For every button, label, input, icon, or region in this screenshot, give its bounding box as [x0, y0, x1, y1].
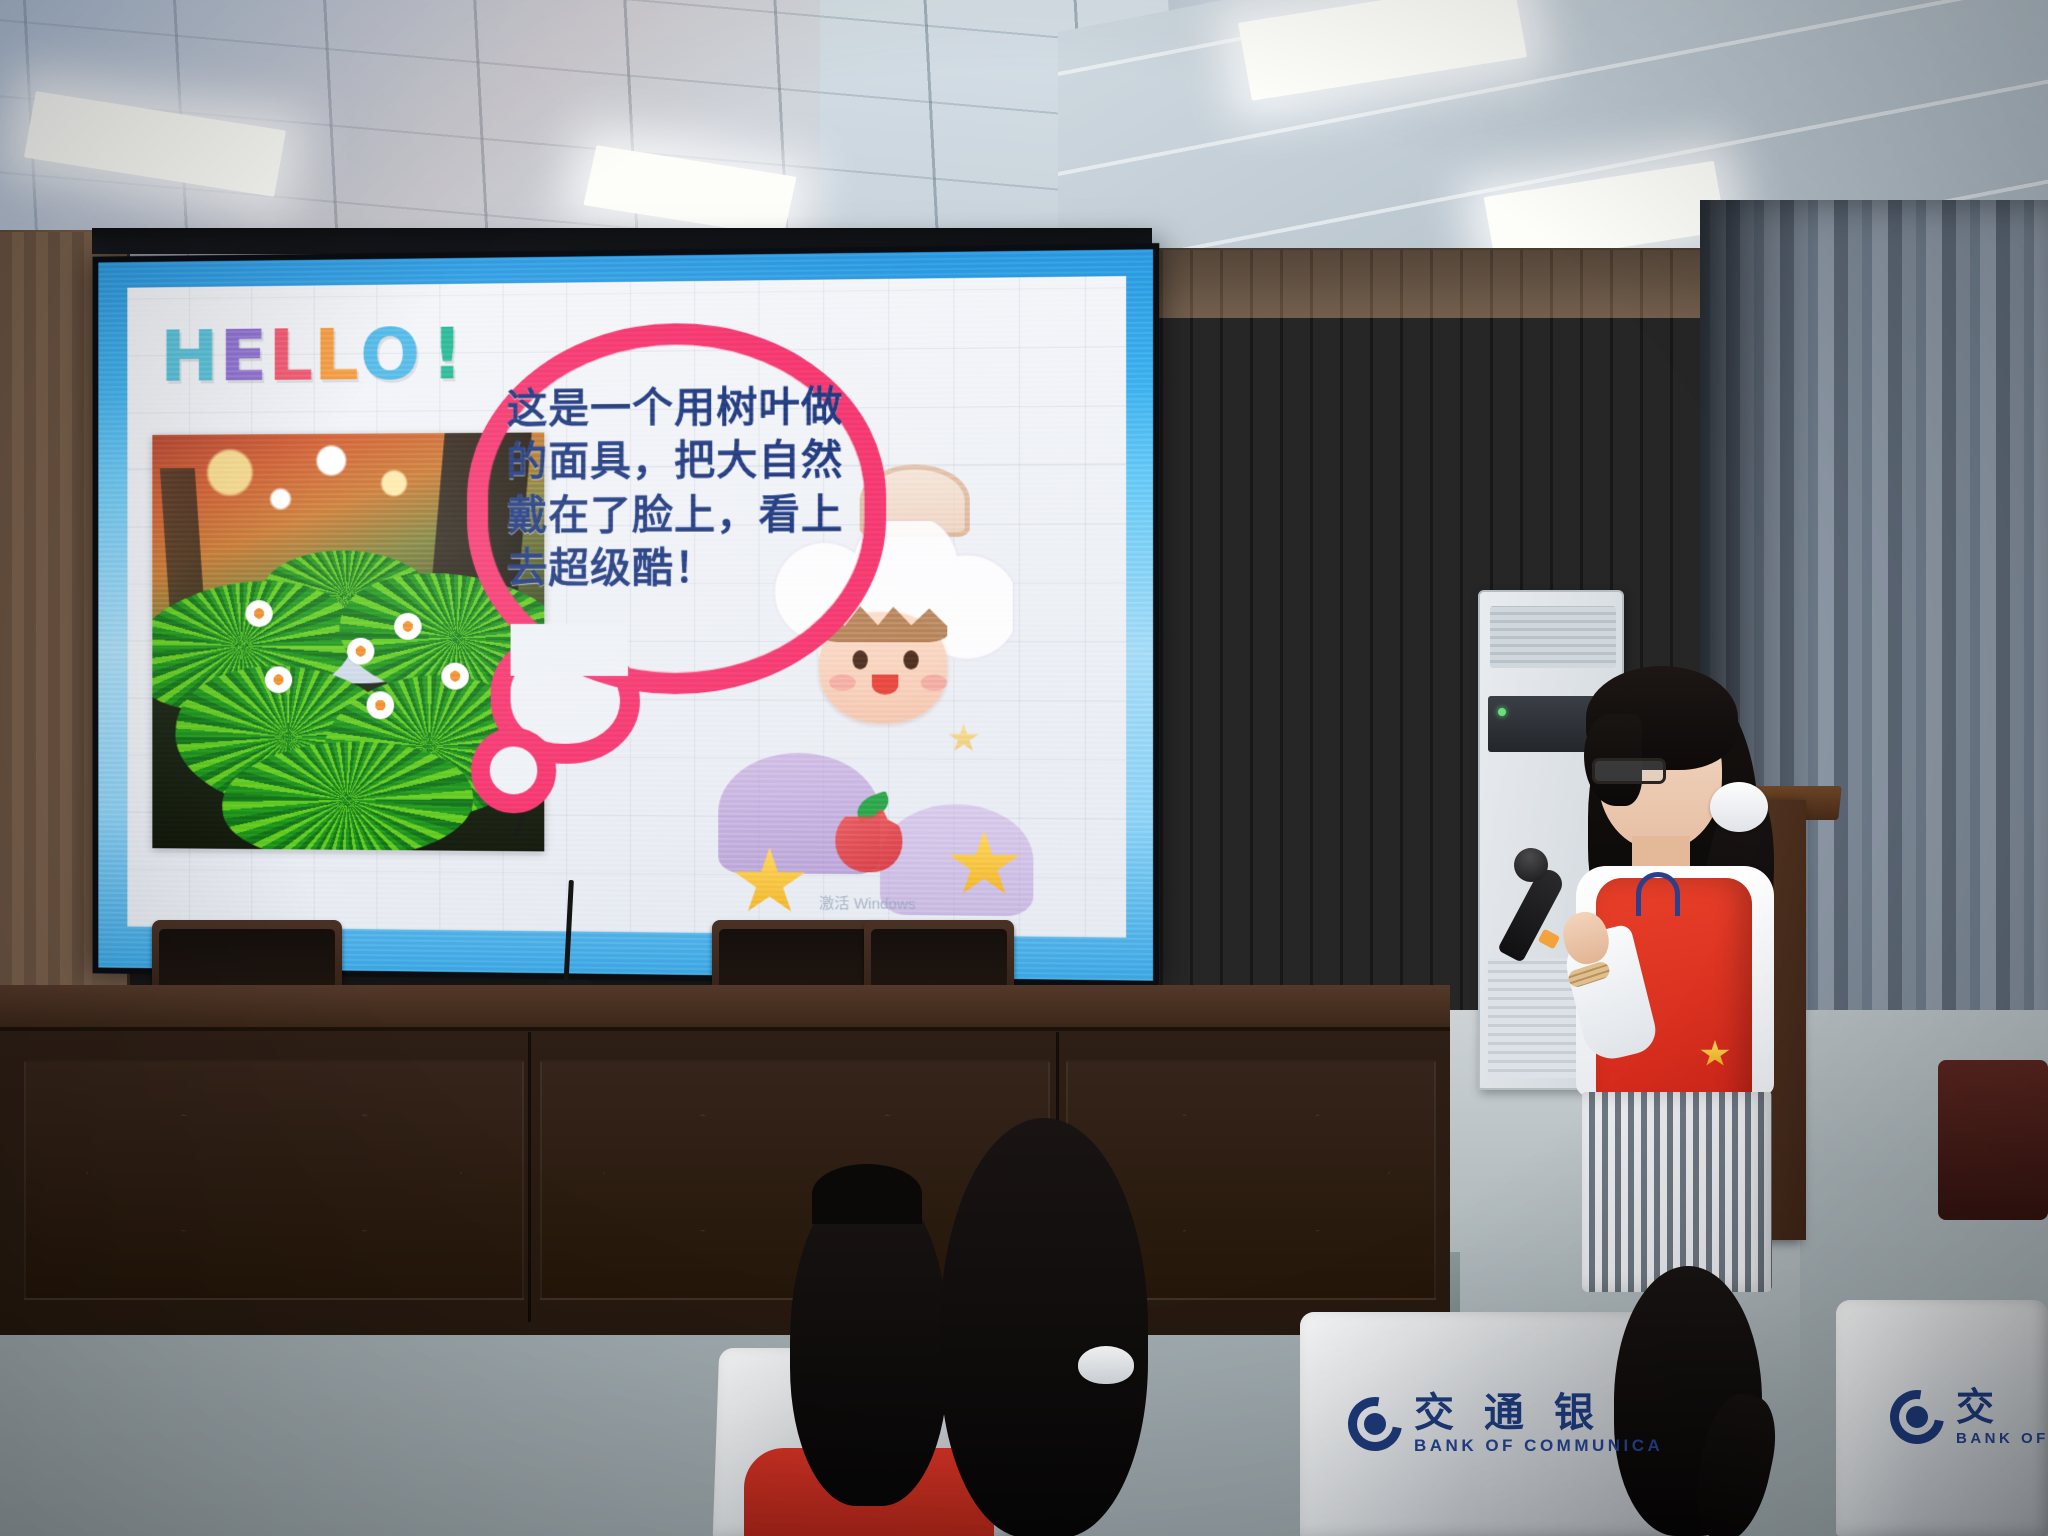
presenter-lanyard	[1636, 872, 1680, 916]
daisy-flower	[347, 638, 374, 665]
desk-diamond-inlay	[603, 1114, 988, 1232]
hair-clip	[1078, 1346, 1134, 1384]
hello-letter: E	[219, 322, 265, 390]
hair-scrunchie	[1710, 782, 1768, 832]
microphone-tip	[1538, 929, 1560, 950]
bank-name-chinese: 交	[1956, 1388, 2048, 1428]
bank-logo-text: 交 BANK OF	[1956, 1388, 2048, 1447]
bank-of-communications-logo-icon	[1348, 1397, 1402, 1451]
star-icon	[947, 723, 980, 754]
hello-letter: L	[314, 321, 357, 389]
desk-diamond-inlay	[1112, 1114, 1390, 1232]
bubble-line: 戴在了脸上，看上	[507, 488, 858, 543]
windows-activation-watermark: 激活 Windows	[819, 892, 916, 914]
daisy-flower	[394, 613, 422, 640]
bubble-line: 这是一个用树叶做	[507, 380, 858, 436]
hello-letter: H	[160, 322, 216, 390]
desk-top-surface	[0, 985, 1450, 1031]
bank-name-chinese: 交 通 银	[1414, 1392, 1663, 1434]
speech-bubble-join	[511, 624, 628, 676]
student-presenter	[1524, 640, 1824, 1260]
cartoon-cheek	[829, 674, 855, 690]
presenter-skirt	[1582, 1092, 1772, 1292]
bank-logo: 交 BANK OF	[1890, 1388, 2048, 1447]
daisy-flower	[441, 663, 469, 690]
bank-name-english: BANK OF COMMUNICA	[1414, 1436, 1663, 1456]
cartoon-mouth	[872, 675, 898, 695]
hello-letter: O	[360, 320, 418, 388]
left-wall-wood-slats	[0, 232, 92, 1052]
daisy-flower	[245, 600, 272, 627]
bank-name-english: BANK OF	[1956, 1430, 2048, 1447]
eyeglasses-icon	[1592, 758, 1666, 784]
bank-of-communications-logo-icon	[1890, 1390, 1944, 1444]
conference-room-scene: H E L L O !	[0, 0, 2048, 1536]
desk-diamond-inlay	[86, 1114, 463, 1232]
cartoon-eye	[903, 650, 918, 669]
cartoon-eye	[853, 650, 868, 669]
led-screen-surface: H E L L O !	[98, 249, 1153, 980]
slide-heading-hello: H E L L O !	[160, 320, 461, 390]
apple-icon	[835, 807, 902, 872]
audience-head	[790, 1176, 948, 1506]
bubble-line: 去超级酷！	[507, 541, 858, 595]
bank-logo-text: 交 通 银 BANK OF COMMUNICA	[1414, 1392, 1663, 1456]
hello-exclamation: !	[431, 320, 461, 388]
logo-dot	[1364, 1413, 1386, 1435]
hello-letter: L	[268, 321, 311, 389]
daisy-flower	[367, 692, 394, 719]
presentation-slide: H E L L O !	[127, 276, 1126, 938]
bubble-line: 的面具，把大自然	[507, 434, 858, 489]
speech-bubble-text: 这是一个用树叶做 的面具，把大自然 戴在了脸上，看上 去超级酷！	[507, 380, 858, 595]
led-screen[interactable]: H E L L O !	[93, 243, 1160, 987]
desk-seam	[528, 1032, 531, 1322]
desk-front-panel	[24, 1060, 524, 1300]
side-chair	[1938, 1060, 2048, 1220]
speech-bubble-tail-dot	[471, 727, 556, 813]
audience-hair-fringe	[812, 1164, 922, 1224]
cartoon-cheek	[921, 675, 948, 691]
ac-power-led-icon	[1498, 708, 1506, 716]
bank-logo: 交 通 银 BANK OF COMMUNICA	[1348, 1392, 1663, 1456]
audience-head	[940, 1118, 1148, 1536]
